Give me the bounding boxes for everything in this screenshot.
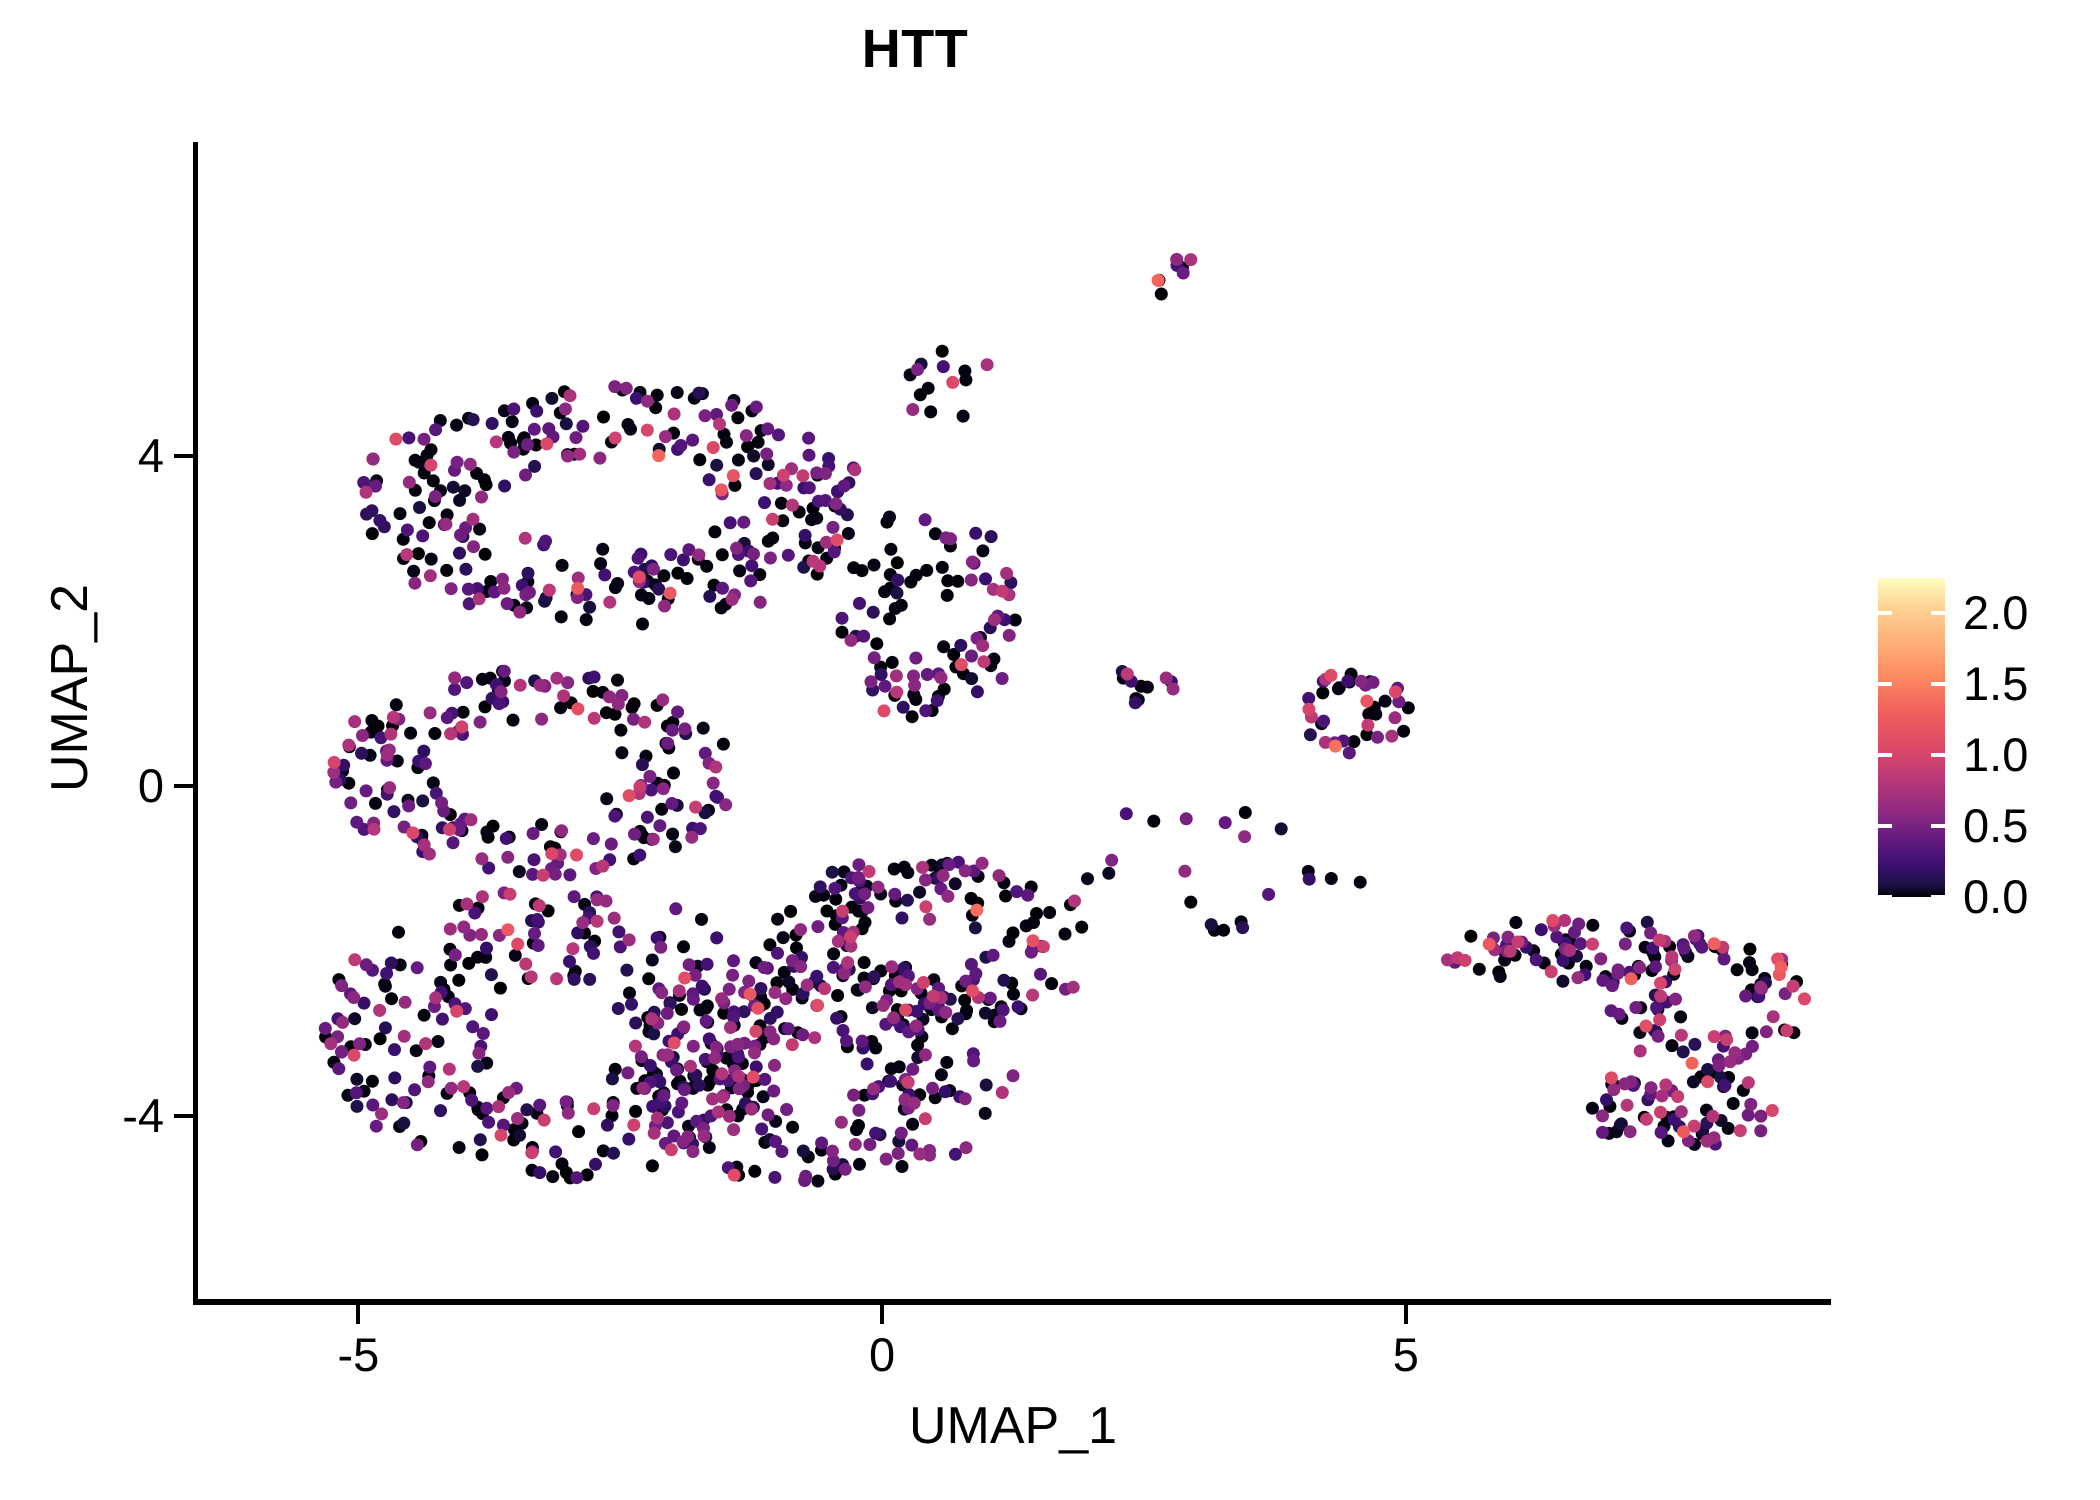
scatter-point <box>695 913 708 926</box>
scatter-point <box>666 724 679 737</box>
scatter-point <box>448 671 461 684</box>
x-tick-mark <box>1404 1305 1408 1324</box>
scatter-point <box>745 1103 758 1116</box>
scatter-point <box>1633 961 1646 974</box>
scatter-point <box>909 652 922 665</box>
scatter-point <box>1621 1099 1634 1112</box>
scatter-point <box>444 923 457 936</box>
scatter-point <box>335 979 348 992</box>
scatter-point <box>392 926 405 939</box>
scatter-point <box>1652 1030 1665 1043</box>
scatter-point <box>715 1067 728 1080</box>
scatter-point <box>841 956 854 969</box>
scatter-point <box>1618 1077 1631 1090</box>
scatter-point <box>407 565 420 578</box>
scatter-point <box>678 722 691 735</box>
scatter-point <box>769 986 782 999</box>
scatter-point <box>671 386 684 399</box>
scatter-point <box>474 1133 487 1146</box>
scatter-point <box>1178 865 1191 878</box>
scatter-point <box>533 1166 546 1179</box>
scatter-point <box>1003 935 1016 948</box>
scatter-point <box>716 548 729 561</box>
scatter-point <box>997 1004 1010 1017</box>
scatter-point <box>1355 675 1368 688</box>
scatter-point <box>853 1158 866 1171</box>
scatter-point <box>884 543 897 556</box>
scatter-point <box>1645 1081 1658 1094</box>
scatter-point <box>620 964 633 977</box>
colorbar-tick-mark <box>1931 824 1945 828</box>
scatter-point <box>673 984 686 997</box>
scatter-point <box>707 441 720 454</box>
scatter-point <box>513 1129 526 1142</box>
scatter-point <box>568 973 581 986</box>
scatter-point <box>475 491 488 504</box>
scatter-point <box>560 1095 573 1108</box>
scatter-point <box>976 857 989 870</box>
scatter-point <box>999 890 1012 903</box>
scatter-point <box>720 436 733 449</box>
scatter-point <box>439 518 452 531</box>
scatter-point <box>380 967 393 980</box>
scatter-point <box>808 1031 821 1044</box>
scatter-point <box>1219 816 1232 829</box>
scatter-point <box>879 680 892 693</box>
scatter-point <box>623 933 636 946</box>
scatter-point <box>347 991 360 1004</box>
scatter-point <box>697 722 710 735</box>
scatter-point <box>1397 725 1410 738</box>
scatter-point <box>708 525 721 538</box>
scatter-point <box>742 975 755 988</box>
scatter-point <box>661 737 674 750</box>
scatter-point <box>669 840 682 853</box>
scatter-point <box>828 882 841 895</box>
scatter-point <box>351 1100 364 1113</box>
scatter-point <box>748 1165 761 1178</box>
scatter-point <box>971 685 984 698</box>
scatter-point <box>844 930 857 943</box>
scatter-point <box>1238 830 1251 843</box>
scatter-point <box>636 758 649 771</box>
scatter-point <box>641 424 654 437</box>
scatter-point <box>1574 937 1587 950</box>
scatter-point <box>428 727 441 740</box>
scatter-point <box>519 588 532 601</box>
scatter-point <box>400 548 413 561</box>
scatter-point <box>906 710 919 723</box>
scatter-point <box>913 1148 926 1161</box>
scatter-point <box>993 869 1006 882</box>
scatter-point <box>944 532 957 545</box>
scatter-point <box>608 810 621 823</box>
scatter-point <box>348 1012 361 1025</box>
scatter-point <box>629 1017 642 1030</box>
scatter-point <box>573 448 586 461</box>
x-tick-mark <box>356 1305 360 1324</box>
scatter-point <box>744 574 757 587</box>
scatter-point <box>985 530 998 543</box>
scatter-point <box>1754 981 1767 994</box>
scatter-point <box>924 405 937 418</box>
scatter-point <box>360 784 373 797</box>
scatter-point <box>645 1012 658 1025</box>
scatter-point <box>1160 672 1173 685</box>
scatter-point <box>615 746 628 759</box>
scatter-point <box>1205 918 1218 931</box>
scatter-point <box>403 476 416 489</box>
scatter-point <box>398 1030 411 1043</box>
scatter-point <box>744 988 757 1001</box>
scatter-point <box>646 1159 659 1172</box>
scatter-point <box>849 1138 862 1151</box>
scatter-point <box>511 1112 524 1125</box>
scatter-point <box>1665 950 1678 963</box>
scatter-point <box>365 714 378 727</box>
scatter-point <box>919 1112 932 1125</box>
scatter-point <box>1775 961 1788 974</box>
scatter-point <box>605 838 618 851</box>
scatter-point <box>794 960 807 973</box>
scatter-point <box>1459 954 1472 967</box>
scatter-point <box>540 437 553 450</box>
scatter-point <box>858 887 871 900</box>
scatter-point <box>777 931 790 944</box>
scatter-point <box>549 868 562 881</box>
scatter-point <box>614 724 627 737</box>
scatter-point <box>664 587 677 600</box>
scatter-point <box>1303 873 1316 886</box>
scatter-point <box>1739 990 1752 1003</box>
scatter-point <box>467 513 480 526</box>
scatter-point <box>1706 1110 1719 1123</box>
x-tick-mark <box>880 1305 884 1324</box>
scatter-point <box>666 828 679 841</box>
colorbar-tick-mark <box>1931 753 1945 757</box>
scatter-point <box>607 1147 620 1160</box>
scatter-point <box>1746 1026 1759 1039</box>
scatter-point <box>784 905 797 918</box>
scatter-point <box>687 1040 700 1053</box>
scatter-point <box>423 516 436 529</box>
scatter-point <box>576 420 589 433</box>
scatter-point <box>612 1002 625 1015</box>
scatter-point <box>771 947 784 960</box>
scatter-point <box>480 826 493 839</box>
colorbar-tick-label: 2.0 <box>1963 589 2028 636</box>
scatter-point <box>1483 938 1496 951</box>
scatter-point <box>965 650 978 663</box>
scatter-point <box>1586 938 1599 951</box>
scatter-point <box>888 863 901 876</box>
scatter-point <box>485 968 498 981</box>
scatter-point <box>901 866 914 879</box>
scatter-point <box>1360 695 1373 708</box>
scatter-point <box>1677 1045 1690 1058</box>
scatter-point <box>960 1141 973 1154</box>
scatter-point <box>1325 872 1338 885</box>
scatter-point <box>451 456 464 469</box>
scatter-point <box>623 987 636 1000</box>
scatter-point <box>868 559 881 572</box>
scatter-point <box>528 853 541 866</box>
scatter-point <box>480 942 493 955</box>
scatter-point <box>636 618 649 631</box>
scatter-point <box>747 548 760 561</box>
scatter-point <box>519 532 532 545</box>
scatter-point <box>745 559 758 572</box>
scatter-point <box>397 1096 410 1109</box>
scatter-point <box>513 606 526 619</box>
scatter-point <box>1530 953 1543 966</box>
scatter-point <box>838 480 851 493</box>
scatter-point <box>755 1123 768 1136</box>
scatter-point <box>987 949 1000 962</box>
scatter-point <box>1012 1000 1025 1013</box>
scatter-point <box>1010 885 1023 898</box>
scatter-point <box>556 1157 569 1170</box>
scatter-point <box>889 602 902 615</box>
scatter-point <box>848 463 861 476</box>
scatter-point <box>979 1007 992 1020</box>
scatter-point <box>1546 914 1559 927</box>
scatter-point <box>970 904 983 917</box>
scatter-point <box>436 1013 449 1026</box>
scatter-point <box>760 448 773 461</box>
scatter-point <box>919 874 932 887</box>
scatter-point <box>635 589 648 602</box>
scatter-point <box>465 1094 478 1107</box>
scatter-point <box>936 345 949 358</box>
scatter-point <box>853 597 866 610</box>
scatter-point <box>532 939 545 952</box>
colorbar-tick-mark <box>1878 753 1892 757</box>
scatter-point <box>1754 1124 1767 1137</box>
scatter-point <box>1068 895 1081 908</box>
x-tick-label: 5 <box>1326 1330 1486 1379</box>
scatter-point <box>908 679 921 692</box>
scatter-point <box>880 1153 893 1166</box>
scatter-point <box>949 877 962 890</box>
scatter-point <box>1535 923 1548 936</box>
scatter-point <box>1003 629 1016 642</box>
scatter-point <box>888 888 901 901</box>
scatter-point <box>908 1097 921 1110</box>
scatter-point <box>589 1158 602 1171</box>
scatter-point <box>507 714 520 727</box>
scatter-point <box>710 931 723 944</box>
scatter-point <box>1766 1104 1779 1117</box>
scatter-point <box>678 1083 691 1096</box>
scatter-point <box>1649 960 1662 973</box>
scatter-point <box>1343 746 1356 759</box>
scatter-point <box>449 949 462 962</box>
scatter-point <box>603 596 616 609</box>
scatter-point <box>402 431 415 444</box>
scatter-point <box>654 941 667 954</box>
scatter-point <box>668 1037 681 1050</box>
scatter-point <box>727 469 740 482</box>
scatter-point <box>622 1133 635 1146</box>
scatter-point <box>979 1107 992 1120</box>
scatter-point <box>1654 990 1667 1003</box>
scatter-point <box>525 1146 538 1159</box>
scatter-point <box>611 674 624 687</box>
scatter-point <box>764 477 777 490</box>
scatter-point <box>747 450 760 463</box>
scatter-point <box>921 668 934 681</box>
scatter-point <box>545 847 558 860</box>
scatter-point <box>416 794 429 807</box>
scatter-point <box>847 1089 860 1102</box>
page-title: HTT <box>0 22 1830 76</box>
scatter-point <box>796 469 809 482</box>
scatter-point <box>408 577 421 590</box>
scatter-point <box>766 513 779 526</box>
scatter-point <box>627 1119 640 1132</box>
scatter-point <box>506 415 519 428</box>
scatter-point <box>1556 975 1569 988</box>
scatter-point <box>814 880 827 893</box>
scatter-point <box>533 1099 546 1112</box>
scatter-point <box>454 529 467 542</box>
scatter-point <box>406 826 419 839</box>
scatter-point <box>724 1021 737 1034</box>
scatter-point <box>1688 930 1701 943</box>
scatter-point <box>563 955 576 968</box>
scatter-point <box>507 446 520 459</box>
scatter-point <box>620 382 633 395</box>
scatter-point <box>537 869 550 882</box>
scatter-point <box>923 913 936 926</box>
scatter-point <box>332 1062 345 1075</box>
scatter-point <box>621 1066 634 1079</box>
scatter-point <box>1025 946 1038 959</box>
scatter-point <box>1152 274 1165 287</box>
scatter-point <box>1550 930 1563 943</box>
scatter-point <box>768 1171 781 1184</box>
colorbar-tick-mark <box>1878 682 1892 686</box>
scatter-point <box>1045 977 1058 990</box>
scatter-point <box>387 805 400 818</box>
scatter-point <box>389 433 402 446</box>
scatter-point <box>394 507 407 520</box>
scatter-point <box>1007 988 1020 1001</box>
scatter-point <box>542 422 555 435</box>
scatter-point <box>495 1129 508 1142</box>
scatter-point <box>1701 1075 1714 1088</box>
scatter-point <box>422 1075 435 1088</box>
scatter-point <box>819 467 832 480</box>
scatter-point <box>381 748 394 761</box>
scatter-point <box>457 706 470 719</box>
scatter-point <box>976 544 989 557</box>
scatter-point <box>373 1004 386 1017</box>
scatter-point <box>897 701 910 714</box>
scatter-point <box>539 535 552 548</box>
scatter-point <box>418 1009 431 1022</box>
scatter-point <box>1473 963 1486 976</box>
scatter-point <box>1571 971 1584 984</box>
y-axis-line <box>193 142 198 1305</box>
scatter-point <box>411 961 424 974</box>
scatter-point <box>587 947 600 960</box>
scatter-point <box>1619 938 1632 951</box>
scatter-point <box>878 704 891 717</box>
scatter-point <box>1027 934 1040 947</box>
scatter-point <box>943 858 956 871</box>
scatter-point <box>906 1118 919 1131</box>
scatter-point <box>861 901 874 914</box>
scatter-point <box>657 782 670 795</box>
scatter-point <box>926 1082 939 1095</box>
scatter-point <box>531 913 544 926</box>
scatter-point <box>1586 919 1599 932</box>
scatter-point <box>353 1037 366 1050</box>
scatter-point <box>656 693 669 706</box>
scatter-point <box>360 958 373 971</box>
scatter-point <box>692 548 705 561</box>
scatter-point <box>480 1102 493 1115</box>
scatter-point <box>1640 1020 1653 1033</box>
scatter-point <box>906 403 919 416</box>
scatter-point <box>725 399 738 412</box>
scatter-point <box>681 1130 694 1143</box>
scatter-point <box>626 701 639 714</box>
scatter-point <box>342 739 355 752</box>
scatter-point <box>801 979 814 992</box>
scatter-point <box>661 1007 674 1020</box>
scatter-point <box>935 671 948 684</box>
scatter-point <box>534 679 547 692</box>
colorbar-tick-mark <box>1878 611 1892 615</box>
scatter-point <box>719 798 732 811</box>
scatter-point <box>675 1097 688 1110</box>
scatter-point <box>383 781 396 794</box>
scatter-point <box>671 706 684 719</box>
scatter-point <box>927 990 940 1003</box>
scatter-point <box>500 832 513 845</box>
scatter-point <box>911 363 924 376</box>
scatter-point <box>937 360 950 373</box>
scatter-point <box>591 893 604 906</box>
scatter-point <box>802 432 815 445</box>
scatter-point <box>1671 1090 1684 1103</box>
scatter-point <box>740 429 753 442</box>
scatter-point <box>884 1075 897 1088</box>
scatter-point <box>559 403 572 416</box>
scatter-point <box>443 823 456 836</box>
scatter-point <box>856 1035 869 1048</box>
scatter-point <box>1720 1033 1733 1046</box>
scatter-point <box>815 1137 828 1150</box>
scatter-point <box>388 1043 401 1056</box>
scatter-point <box>556 559 569 572</box>
colorbar-tick-label: 0.5 <box>1963 802 2028 849</box>
scatter-point <box>622 418 635 431</box>
scatter-point <box>940 1056 953 1069</box>
scatter-point <box>917 976 930 989</box>
scatter-point <box>429 991 442 1004</box>
scatter-point <box>1688 1038 1701 1051</box>
scatter-point <box>919 1048 932 1061</box>
scatter-point <box>411 1138 424 1151</box>
scatter-point <box>1596 1126 1609 1139</box>
scatter-point <box>872 881 885 894</box>
scatter-point <box>1026 989 1039 1002</box>
scatter-point <box>1727 1097 1740 1110</box>
